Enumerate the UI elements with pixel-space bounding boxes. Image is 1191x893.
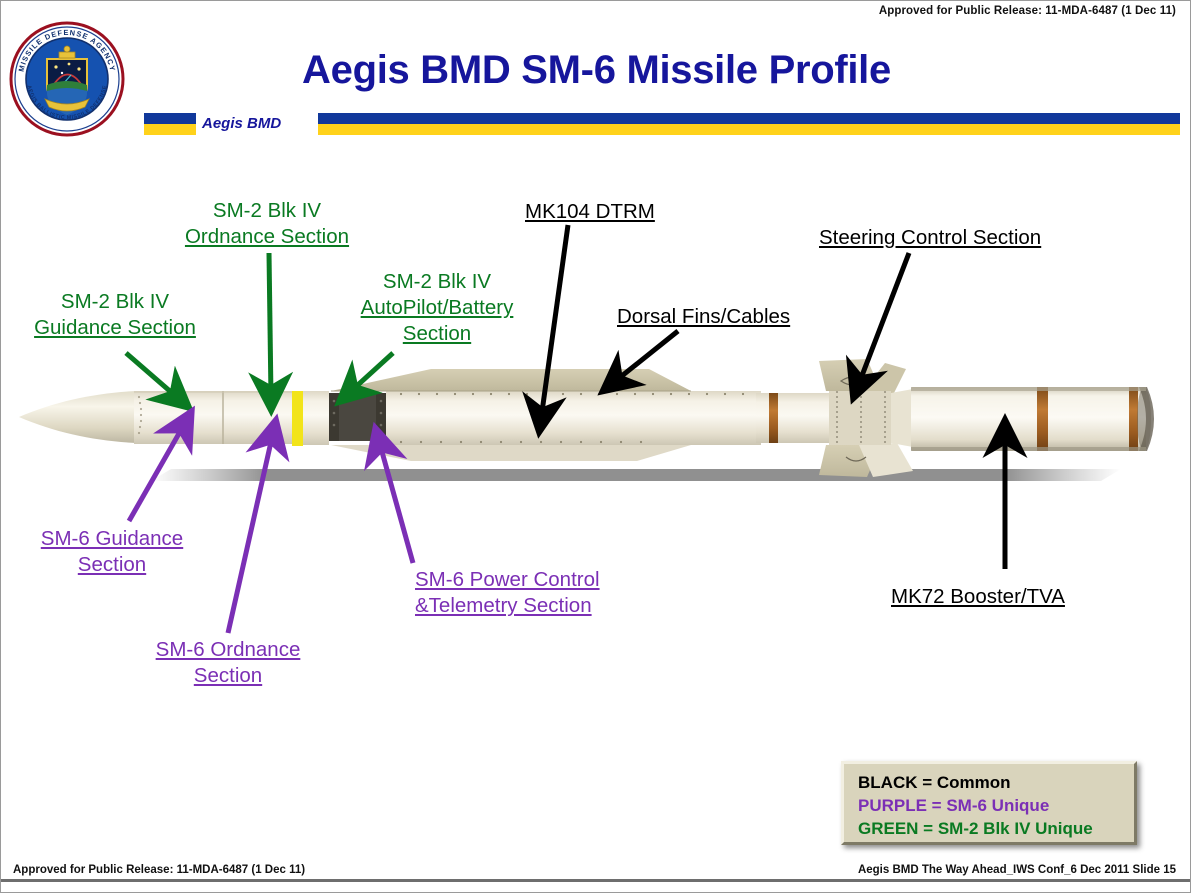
callout-sm2-ordnance: SM-2 Blk IV Ordnance Section <box>177 198 357 250</box>
legend-row-green: GREEN = SM-2 Blk IV Unique <box>858 817 1134 840</box>
callout-line: SM-2 Blk IV <box>177 198 357 224</box>
callout-line: Steering Control Section <box>819 226 1041 249</box>
callout-line: Section <box>194 664 262 687</box>
legend-row-purple: PURPLE = SM-6 Unique <box>858 794 1134 817</box>
callout-sm2-guidance: SM-2 Blk IV Guidance Section <box>25 289 205 341</box>
page-title: Aegis BMD SM-6 Missile Profile <box>1 48 1191 93</box>
callout-sm6-ordnance: SM-6 Ordnance Section <box>141 637 315 689</box>
callout-line: &Telemetry Section <box>415 594 592 617</box>
footer-rule <box>1 879 1191 882</box>
callout-line: SM-2 Blk IV <box>349 269 525 295</box>
callout-line: SM-2 Blk IV <box>25 289 205 315</box>
callout-sm6-guidance: SM-6 Guidance Section <box>25 526 199 578</box>
classification-banner-top: Approved for Public Release: 11-MDA-6487… <box>879 5 1176 17</box>
callout-line: MK104 DTRM <box>525 200 655 223</box>
aegis-bmd-banner: Aegis BMD <box>144 113 1180 139</box>
callout-steering-control: Steering Control Section <box>819 225 1041 251</box>
callout-line: Section <box>78 553 146 576</box>
callout-line: Section <box>349 321 525 347</box>
callout-line: Dorsal Fins/Cables <box>617 305 790 328</box>
callout-line: Guidance Section <box>25 315 205 341</box>
legend-row-black: BLACK = Common <box>858 771 1134 794</box>
callout-dorsal-fins: Dorsal Fins/Cables <box>617 304 790 330</box>
missile-photograph <box>1 351 1191 511</box>
callout-line: Ordnance Section <box>177 224 357 250</box>
callout-sm6-power: SM-6 Power Control &Telemetry Section <box>415 567 600 619</box>
footer-deck-info: Aegis BMD The Way Ahead_IWS Conf_6 Dec 2… <box>858 864 1176 876</box>
banner-label: Aegis BMD <box>202 115 281 132</box>
color-legend-box: BLACK = Common PURPLE = SM-6 Unique GREE… <box>841 761 1137 845</box>
callout-mk72-booster: MK72 Booster/TVA <box>891 584 1065 610</box>
callout-line: SM-6 Ordnance <box>156 638 301 661</box>
callout-mk104-dtrm: MK104 DTRM <box>525 199 655 225</box>
slide-canvas: Approved for Public Release: 11-MDA-6487… <box>0 0 1191 893</box>
callout-sm2-autopilot: SM-2 Blk IV AutoPilot/Battery Section <box>349 269 525 347</box>
callout-line: MK72 Booster/TVA <box>891 585 1065 608</box>
callout-line: AutoPilot/Battery <box>349 295 525 321</box>
callout-line: SM-6 Power Control <box>415 568 600 591</box>
callout-line: SM-6 Guidance <box>41 527 183 550</box>
classification-banner-bottom: Approved for Public Release: 11-MDA-6487… <box>13 864 305 876</box>
